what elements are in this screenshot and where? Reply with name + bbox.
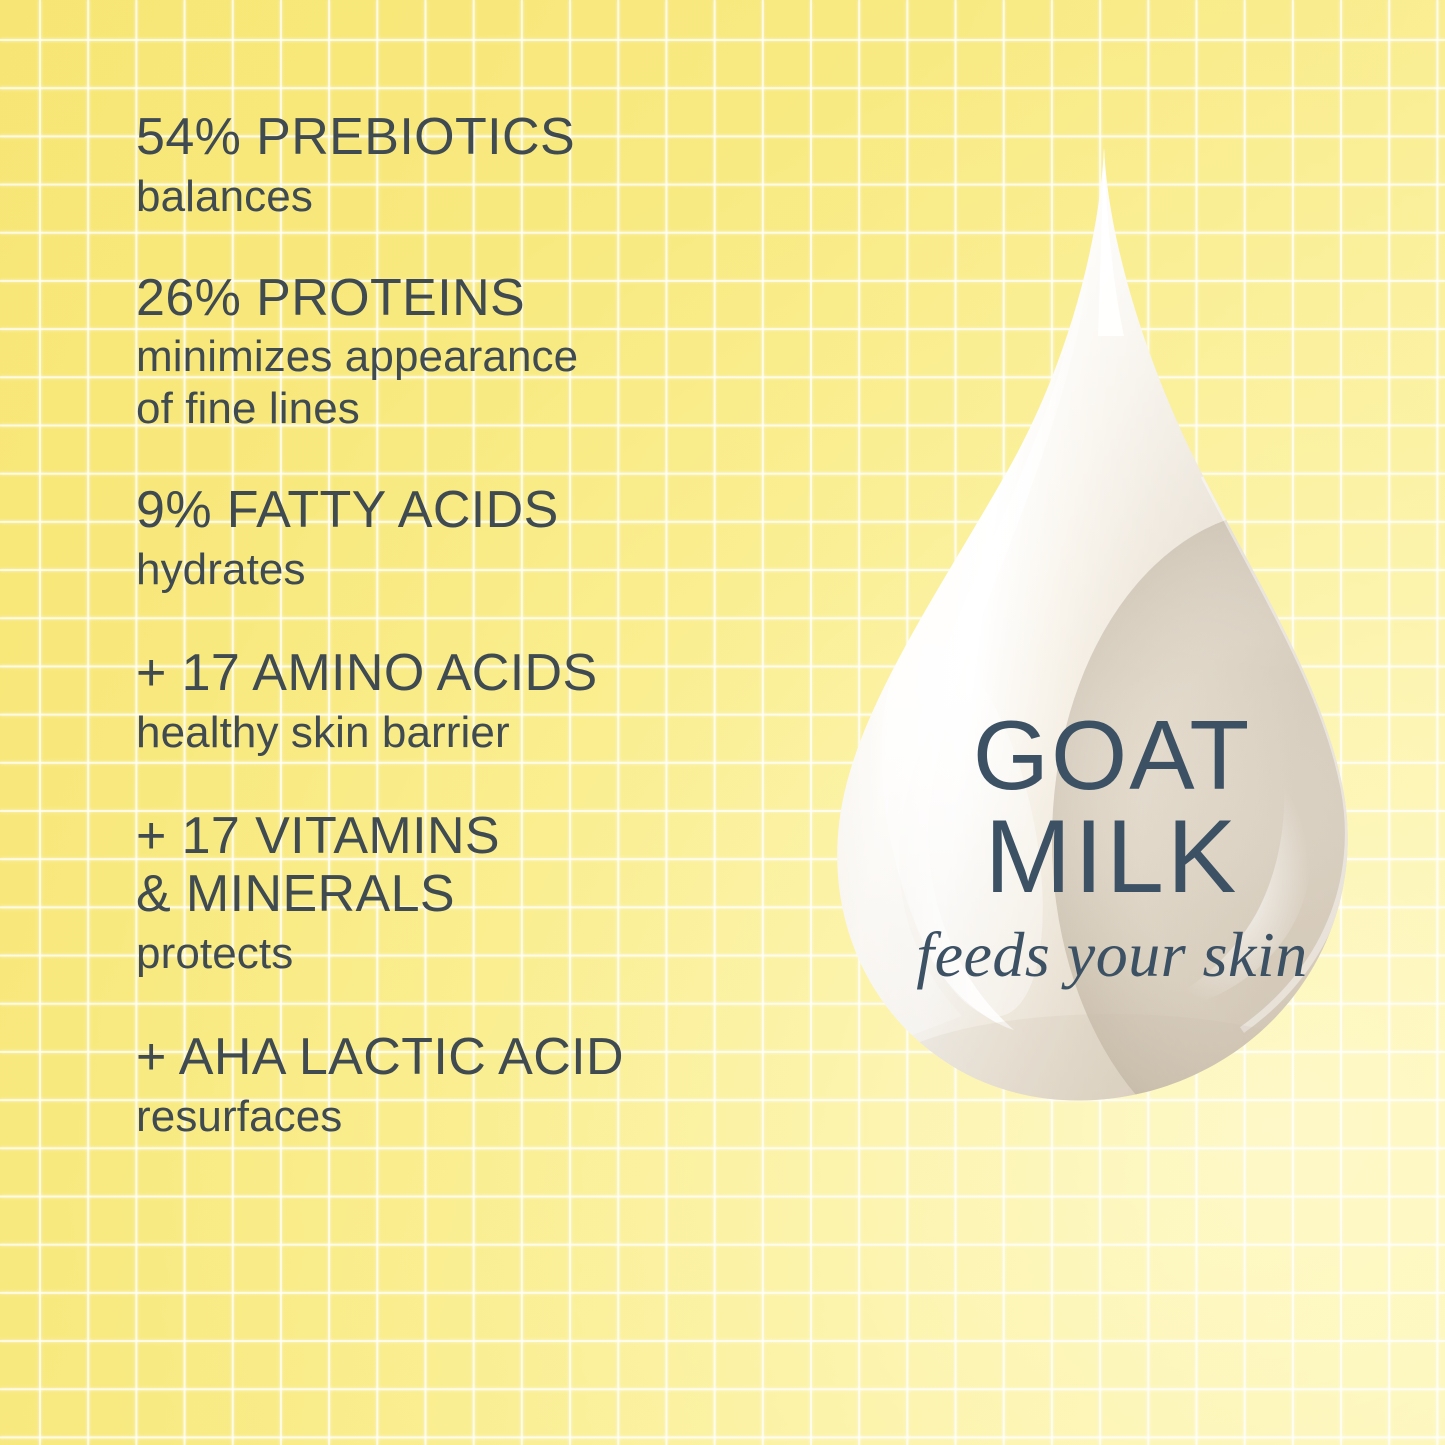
- fact-item-prebiotics: 54% PREBIOTICS balances: [136, 108, 816, 223]
- infographic-canvas: 54% PREBIOTICS balances 26% PROTEINS min…: [0, 0, 1445, 1445]
- fact-item-fatty-acids: 9% FATTY ACIDS hydrates: [136, 481, 816, 596]
- fact-benefit: protects: [136, 928, 816, 980]
- fact-benefit: healthy skin barrier: [136, 707, 816, 759]
- ingredient-fact-list: 54% PREBIOTICS balances 26% PROTEINS min…: [136, 108, 816, 1143]
- fact-item-amino-acids: + 17 AMINO ACIDS healthy skin barrier: [136, 644, 816, 759]
- milk-droplet: GOAT MILK feeds your skin: [812, 140, 1412, 1180]
- fact-benefit: hydrates: [136, 544, 816, 596]
- fact-benefit: resurfaces: [136, 1091, 816, 1143]
- fact-item-aha-lactic-acid: + AHA LACTIC ACID resurfaces: [136, 1028, 816, 1143]
- fact-item-vitamins-minerals: + 17 VITAMINS & MINERALS protects: [136, 807, 816, 980]
- fact-title: + 17 VITAMINS & MINERALS: [136, 807, 816, 925]
- fact-title: + AHA LACTIC ACID: [136, 1028, 816, 1087]
- fact-title: 9% FATTY ACIDS: [136, 481, 816, 540]
- fact-title: 54% PREBIOTICS: [136, 108, 816, 167]
- milk-droplet-icon: [812, 140, 1412, 1180]
- fact-benefit: minimizes appearance of fine lines: [136, 331, 816, 435]
- fact-benefit: balances: [136, 171, 816, 223]
- fact-item-proteins: 26% PROTEINS minimizes appearance of fin…: [136, 269, 816, 436]
- fact-title: + 17 AMINO ACIDS: [136, 644, 816, 703]
- droplet-bottom-shade: [872, 1014, 1352, 1154]
- fact-title: 26% PROTEINS: [136, 269, 816, 328]
